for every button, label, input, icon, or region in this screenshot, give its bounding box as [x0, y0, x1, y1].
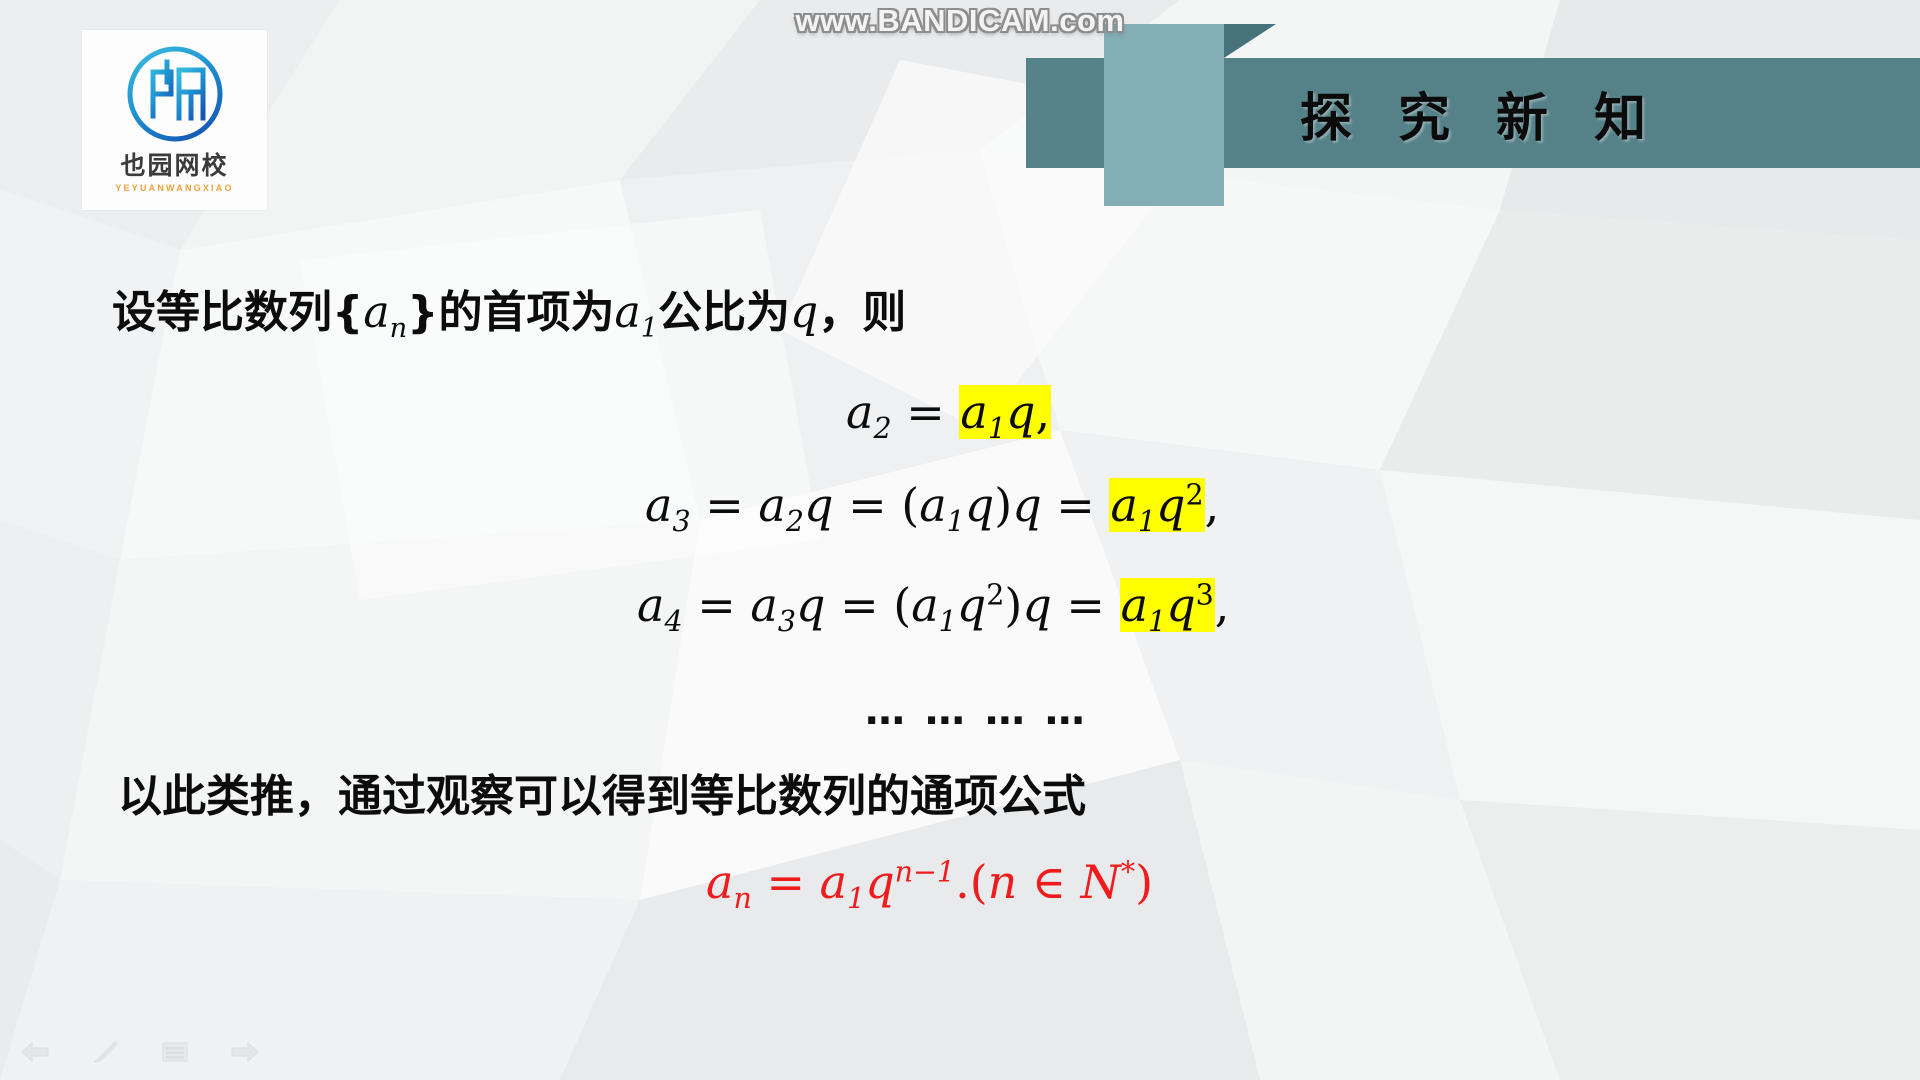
gf-cond-close: ): [1135, 855, 1153, 909]
intro-sentence: 设等比数列{an}的首项为a1公比为q，则: [112, 276, 906, 344]
eq-a4-s1-sub: 3: [778, 605, 796, 638]
eq-a3-paren-open: (: [901, 478, 919, 532]
gf-cond-star: *: [1121, 856, 1135, 889]
eq-a3-s1-q: q: [804, 478, 833, 532]
slide-menu-button[interactable]: [158, 1038, 192, 1066]
eq-a4-rhs-exp: 3: [1196, 579, 1214, 612]
ellipsis-line: … … … …: [865, 688, 1088, 734]
eq-a4-equals-3: =: [1066, 578, 1105, 632]
eq-a4-rhs-sub: 1: [1148, 605, 1166, 638]
eq-a3-lhs-sub: 3: [672, 505, 690, 538]
eq-a3-rhs-sub: 1: [1138, 505, 1156, 538]
left-arrow-icon: [20, 1040, 50, 1064]
intro-middle: }的首项为: [407, 287, 614, 338]
gf-rhs-a: a: [820, 855, 847, 909]
presentation-slide: www.BANDICAM.com 也园网校 YEYUANWANGXIAO: [0, 0, 1920, 1080]
equation-a2: a2 = a1q,: [846, 385, 1051, 445]
eq-a2-rhs-a: a: [960, 385, 987, 439]
previous-slide-button[interactable]: [18, 1038, 52, 1066]
eq-a4-equals-2: =: [840, 578, 879, 632]
equation-a3: a3 = a2q = (a1q)q = a1q2,: [645, 478, 1219, 538]
eq-a4-s2-times: q: [1022, 578, 1051, 632]
presentation-toolbar[interactable]: [18, 1038, 262, 1066]
eq-a3-rhs-a: a: [1110, 478, 1137, 532]
eq-a4-s1-a: a: [750, 578, 777, 632]
eq-a3-equals-3: =: [1056, 478, 1095, 532]
eq-a2-rhs-sub: 1: [988, 412, 1006, 445]
eq-a4-paren-close: ): [1004, 578, 1022, 632]
eq-a4-equals-1: =: [697, 578, 736, 632]
eq-a4-rhs-highlight: a1q3: [1120, 578, 1215, 632]
intro-ratio-var: q: [790, 287, 818, 338]
eq-a2-rhs-highlight: a1q,: [959, 385, 1051, 439]
gf-equals: =: [766, 855, 805, 909]
pen-tool-button[interactable]: [88, 1038, 122, 1066]
gf-lhs-var: a: [706, 855, 733, 909]
eq-a4-s2-a: a: [911, 578, 938, 632]
bandicam-watermark: www.BANDICAM.com: [0, 3, 1920, 39]
eq-a2-comma: ,: [1035, 385, 1050, 439]
intro-before: 设等比数列{: [112, 287, 363, 338]
intro-first-var: a: [614, 287, 640, 338]
gf-cond-in: ∈: [1032, 855, 1066, 909]
gf-dot: .: [955, 855, 970, 909]
eq-a3-rhs-q: q: [1156, 478, 1185, 532]
eq-a4-s2-sub: 1: [939, 605, 957, 638]
eq-a4-s2-qexp: 2: [986, 579, 1004, 612]
eq-a3-equals-1: =: [705, 478, 744, 532]
intro-after: ，则: [818, 287, 906, 338]
eq-a2-lhs-var: a: [846, 385, 873, 439]
eq-a3-s2-times: q: [1012, 478, 1041, 532]
eq-a3-rhs-exp: 2: [1185, 479, 1203, 512]
right-arrow-icon: [230, 1040, 260, 1064]
intro-seq-var: a: [363, 287, 389, 338]
eq-a3-rhs-highlight: a1q2: [1109, 478, 1204, 532]
eq-a3-s2-a: a: [919, 478, 946, 532]
eq-a2-rhs-q: q: [1006, 385, 1035, 439]
eq-a3-lhs-var: a: [645, 478, 672, 532]
eq-a3-s1-a: a: [758, 478, 785, 532]
eq-a4-s1-q: q: [796, 578, 825, 632]
next-slide-button[interactable]: [228, 1038, 262, 1066]
eq-a2-lhs-sub: 2: [873, 412, 891, 445]
eq-a4-lhs-var: a: [637, 578, 664, 632]
eq-a4-rhs-q: q: [1166, 578, 1195, 632]
eq-a3-paren-close: ): [994, 478, 1012, 532]
eq-a3-s2-sub: 1: [947, 505, 965, 538]
intro-middle2: 公比为: [658, 287, 790, 338]
pen-icon: [91, 1039, 119, 1065]
intro-first-sub: 1: [641, 313, 658, 344]
eq-a4-paren-open: (: [893, 578, 911, 632]
eq-a4-rhs-a: a: [1121, 578, 1148, 632]
slide-content: 设等比数列{an}的首项为a1公比为q，则 a2 = a1q, a3 = a2q…: [0, 0, 1920, 1080]
gf-rhs-q: q: [865, 855, 894, 909]
eq-a3-s1-sub: 2: [786, 505, 804, 538]
eq-a3-equals-2: =: [848, 478, 887, 532]
general-term-formula: an = a1qn−1.(n ∈ N*): [706, 855, 1153, 915]
gf-rhs-sub: 1: [847, 882, 865, 915]
eq-a3-s2-q: q: [965, 478, 994, 532]
eq-a3-comma: ,: [1205, 478, 1220, 532]
eq-a2-equals: =: [906, 385, 945, 439]
gf-cond-set: N: [1081, 855, 1121, 909]
gf-cond-var: n: [988, 855, 1018, 909]
gf-cond-open: (: [970, 855, 988, 909]
conclusion-sentence: 以此类推，通过观察可以得到等比数列的通项公式: [118, 760, 1086, 824]
eq-a4-comma: ,: [1215, 578, 1230, 632]
eq-a4-s2-q: q: [957, 578, 986, 632]
eq-a4-lhs-sub: 4: [664, 605, 682, 638]
equation-a4: a4 = a3q = (a1q2)q = a1q3,: [637, 578, 1229, 638]
gf-lhs-sub: n: [733, 882, 751, 915]
menu-icon: [160, 1040, 190, 1064]
gf-rhs-exponent: n−1: [895, 856, 955, 889]
intro-seq-sub: n: [390, 313, 408, 344]
